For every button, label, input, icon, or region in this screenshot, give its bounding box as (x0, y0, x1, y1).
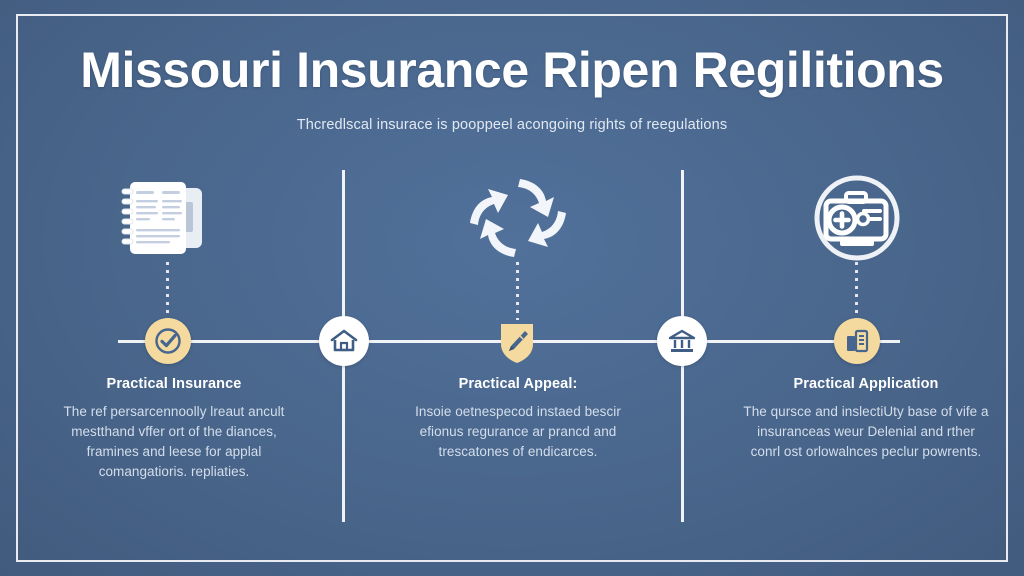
shield-pen-icon (495, 318, 539, 366)
column-heading: Practical Appeal: (398, 376, 638, 392)
page-title: Missouri Insurance Ripen Regilitions (0, 44, 1024, 97)
medical-kit-circle-icon (796, 172, 918, 264)
check-circle-icon (145, 318, 191, 364)
column-heading: Practical Insurance (56, 376, 292, 392)
column-practical-application: Practical Application The qursce and ins… (742, 376, 990, 462)
column-body: The ref persarcennoolly lreaut ancult me… (56, 402, 292, 482)
document-notebook-icon (110, 172, 230, 264)
page-subtitle: Thcredlscal insurace is pooppeel acongoi… (0, 117, 1024, 133)
courthouse-icon (657, 316, 707, 366)
column-body: The qursce and inslectiUty base of vife … (742, 402, 990, 462)
column-practical-appeal: Practical Appeal: Insoie oetnespecod ins… (398, 376, 638, 462)
swirling-arrows-icon (458, 172, 578, 264)
column-practical-insurance: Practical Insurance The ref persarcennoo… (56, 376, 292, 482)
house-icon (319, 316, 369, 366)
infographic-poster: Missouri Insurance Ripen Regilitions Thc… (0, 0, 1024, 576)
dotted-connector-1 (166, 262, 169, 320)
column-body: Insoie oetnespecod instaed bescir efionu… (398, 402, 638, 462)
dotted-connector-2 (516, 262, 519, 320)
dotted-connector-3 (855, 262, 858, 320)
building-document-icon (834, 318, 880, 364)
column-heading: Practical Application (742, 376, 990, 392)
header: Missouri Insurance Ripen Regilitions Thc… (0, 44, 1024, 133)
